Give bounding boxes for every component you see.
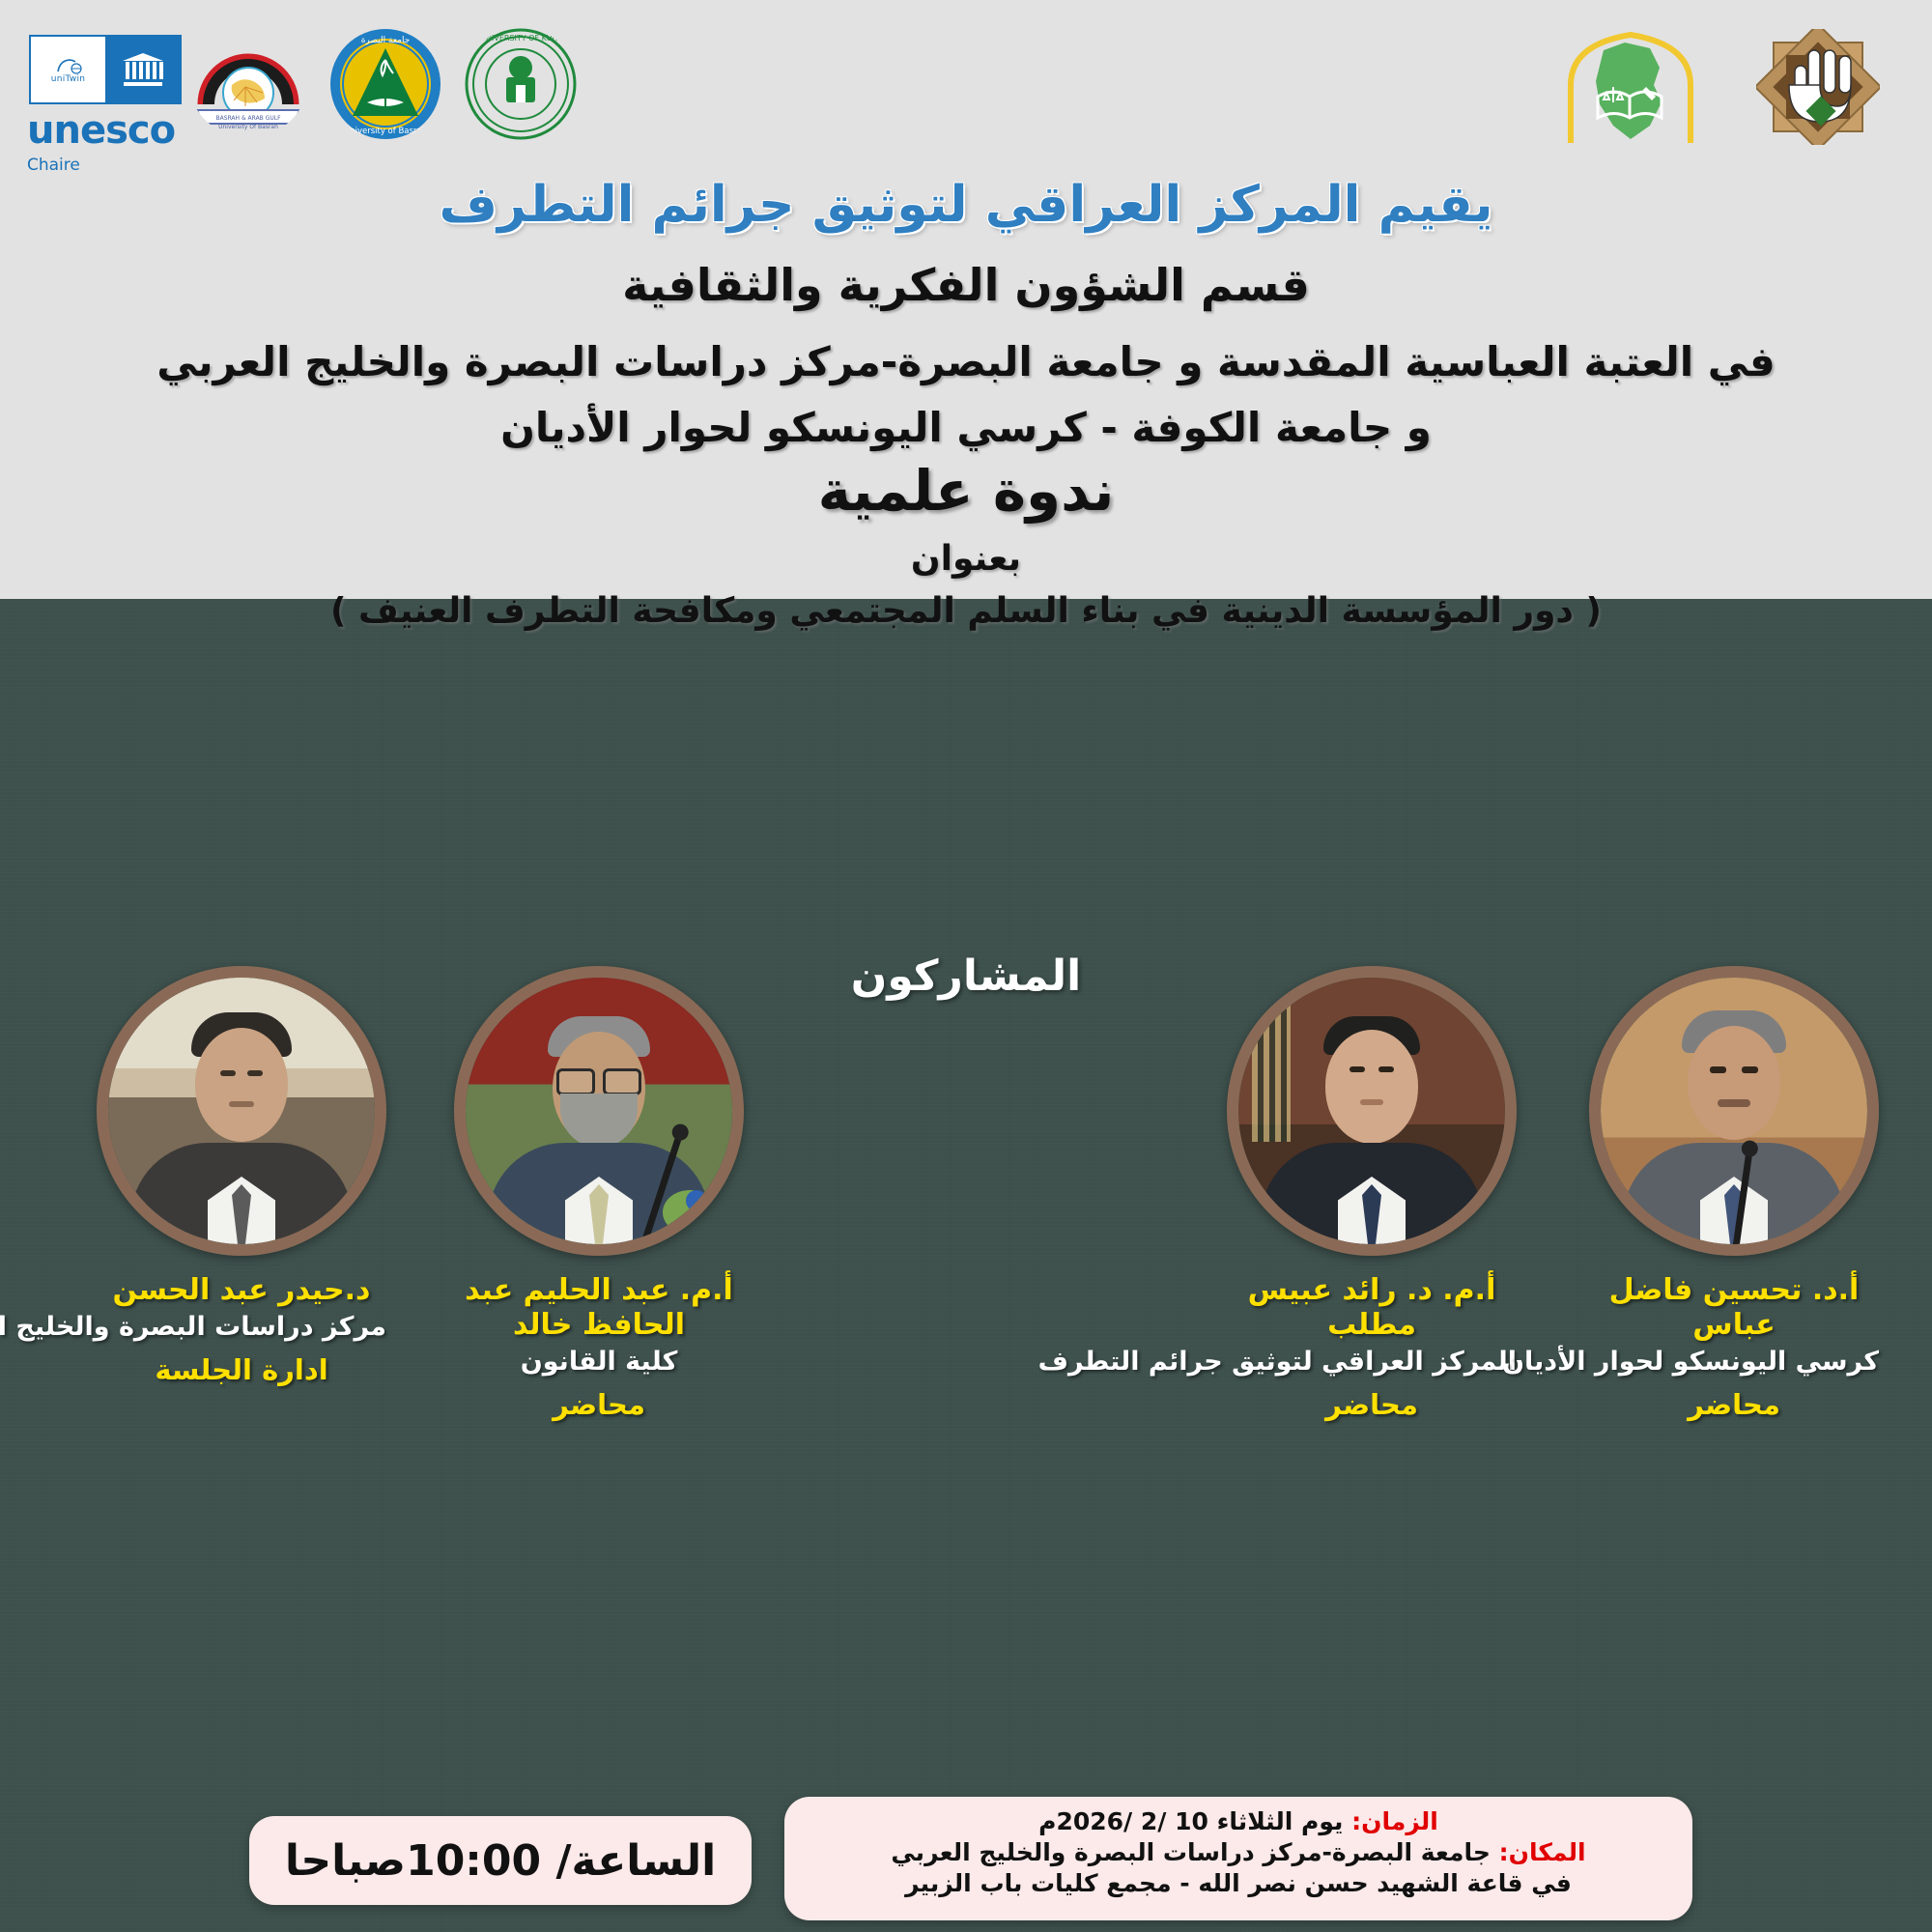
participant-card: أ.م. عبد الحليم عبد الحافظ خالد كلية الق… bbox=[454, 966, 744, 1421]
abbasid-shrine-icon bbox=[1756, 29, 1880, 145]
svg-text:BASRAH & ARAB GULF: BASRAH & ARAB GULF bbox=[215, 115, 281, 122]
participant-card: أ.د. تحسين فاضل عباس كرسي اليونسكو لحوار… bbox=[1589, 966, 1879, 1421]
participant-affiliation: المركز العراقي لتوثيق جرائم التطرف bbox=[1227, 1347, 1517, 1378]
participant-affiliation: مركز دراسات البصرة والخليج العربي bbox=[97, 1312, 386, 1344]
unesco-temple-panel bbox=[105, 37, 180, 102]
greek-temple-icon bbox=[123, 53, 163, 86]
participant-role: ادارة الجلسة bbox=[97, 1353, 386, 1386]
event-poster: uniTwin unesco Chaire BASRAH & ARAB GULF… bbox=[0, 0, 1932, 1932]
participants-row: د.حيدر عبد الحسن مركز دراسات البصرة والخ… bbox=[0, 966, 1932, 1468]
avatar bbox=[97, 966, 386, 1256]
university-of-kufa-logo: UNIVERSITY OF KUFA bbox=[464, 27, 578, 141]
date-label: الزمان: bbox=[1351, 1807, 1438, 1835]
unitwin-label: uniTwin bbox=[51, 75, 86, 84]
date-line: الزمان: يوم الثلاثاء 10 /2 /2026م bbox=[810, 1806, 1667, 1837]
participant-name: أ.م. عبد الحليم عبد الحافظ خالد bbox=[454, 1273, 744, 1343]
participant-affiliation: كرسي اليونسكو لحوار الأديان bbox=[1589, 1347, 1879, 1378]
svg-text:University of Basrah: University of Basrah bbox=[344, 127, 427, 136]
event-type-title: ندوة علمية bbox=[0, 458, 1932, 524]
time-text: الساعة/ 10:00صباحا bbox=[285, 1836, 716, 1886]
avatar bbox=[1227, 966, 1517, 1256]
abbasid-holy-shrine-logo bbox=[1756, 29, 1880, 145]
department-line: قسم الشؤون الفكرية والثقافية bbox=[0, 259, 1932, 311]
place-line: المكان: جامعة البصرة-مركز دراسات البصرة … bbox=[810, 1837, 1667, 1868]
iraq-map-book-icon bbox=[1553, 25, 1708, 145]
time-box: الساعة/ 10:00صباحا bbox=[249, 1816, 752, 1905]
kufa-seal-icon: UNIVERSITY OF KUFA bbox=[464, 27, 578, 141]
bagsc-seal-icon: BASRAH & ARAB GULF University Of Basrah bbox=[189, 29, 307, 137]
svg-text:جامعة البصرة: جامعة البصرة bbox=[361, 36, 411, 45]
basrah-seal-icon: جامعة البصرة University of Basrah bbox=[328, 27, 442, 141]
avatar bbox=[454, 966, 744, 1256]
unesco-emblem-box: uniTwin bbox=[29, 35, 182, 104]
partners-line-1: في العتبة العباسية المقدسة و جامعة البصر… bbox=[0, 338, 1932, 385]
participant-name: أ.م. د. رائد عبيس مطلب bbox=[1227, 1273, 1517, 1343]
venue-line: في قاعة الشهيد حسن نصر الله - مجمع كليات… bbox=[810, 1868, 1667, 1899]
participant-affiliation: كلية القانون bbox=[454, 1347, 744, 1378]
place-value: جامعة البصرة-مركز دراسات البصرة والخليج … bbox=[891, 1838, 1491, 1866]
iraqi-centre-extremism-crimes-logo bbox=[1553, 25, 1708, 145]
details-box: الزمان: يوم الثلاثاء 10 /2 /2026م المكان… bbox=[784, 1797, 1692, 1920]
participant-card: أ.م. د. رائد عبيس مطلب المركز العراقي لت… bbox=[1227, 966, 1517, 1421]
basrah-arab-gulf-studies-centre-logo: BASRAH & ARAB GULF University Of Basrah bbox=[189, 29, 307, 137]
unesco-wordmark: unesco bbox=[27, 111, 182, 150]
organiser-line: يقيم المركز العراقي لتوثيق جرائم التطرف bbox=[0, 176, 1932, 234]
participant-name: د.حيدر عبد الحسن bbox=[97, 1273, 386, 1308]
participant-role: محاضر bbox=[1589, 1388, 1879, 1421]
partners-line-2: و جامعة الكوفة - كرسي اليونسكو لحوار الأ… bbox=[0, 404, 1932, 451]
participant-card: د.حيدر عبد الحسن مركز دراسات البصرة والخ… bbox=[97, 966, 386, 1386]
seminar-topic: ( دور المؤسسة الدينية في بناء السلم المج… bbox=[0, 591, 1932, 631]
unesco-chaire-logo: uniTwin unesco Chaire bbox=[27, 35, 182, 175]
svg-text:University Of Basrah: University Of Basrah bbox=[218, 124, 278, 130]
unitwin-panel: uniTwin bbox=[31, 37, 105, 102]
participant-role: محاضر bbox=[454, 1388, 744, 1421]
participant-role: محاضر bbox=[1227, 1388, 1517, 1421]
unesco-chaire-label: Chaire bbox=[27, 156, 182, 175]
date-value: يوم الثلاثاء 10 /2 /2026م bbox=[1038, 1807, 1343, 1835]
university-of-basrah-logo: جامعة البصرة University of Basrah bbox=[328, 27, 442, 141]
participant-name: أ.د. تحسين فاضل عباس bbox=[1589, 1273, 1879, 1343]
titled-label: بعنوان bbox=[0, 539, 1932, 579]
avatar bbox=[1589, 966, 1879, 1256]
logo-bar: uniTwin unesco Chaire BASRAH & ARAB GULF… bbox=[0, 0, 1932, 164]
place-label: المكان: bbox=[1499, 1838, 1586, 1866]
svg-text:UNIVERSITY OF KUFA: UNIVERSITY OF KUFA bbox=[480, 34, 561, 43]
unitwin-swirl-icon bbox=[54, 56, 83, 75]
